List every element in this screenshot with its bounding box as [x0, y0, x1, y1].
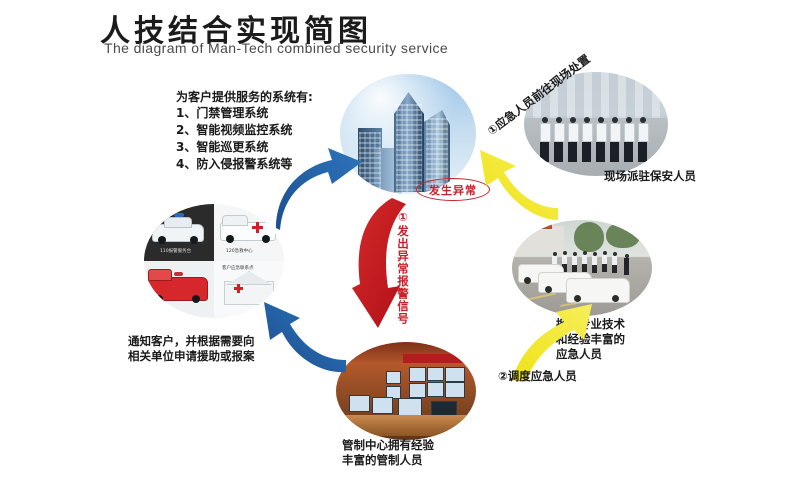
wall-monitor [386, 371, 401, 384]
guard-figure [638, 117, 647, 162]
control-room-caption: 管制中心拥有经验 丰富的管制人员 [342, 438, 434, 468]
patrol-person [612, 252, 617, 273]
guard-figure [596, 117, 605, 162]
systems-list-items: 1、门禁管理系统 2、智能视频监控系统 3、智能巡更系统 4、防入侵报警系统等 [176, 105, 292, 173]
patrol-person [582, 251, 587, 272]
patrol-building [512, 226, 564, 254]
guard-figure [610, 117, 619, 162]
patrol-person [592, 252, 597, 273]
alarm-signal-label: ①发出异常报警信号 [396, 210, 410, 325]
wall-monitor [445, 367, 465, 383]
guards-caption: 现场派驻保安人员 [604, 168, 696, 184]
police-label: 110报警服务台 [160, 248, 191, 254]
fire-truck-cabin [148, 269, 172, 281]
systems-list-heading: 为客户提供服务的系统有: [176, 88, 313, 105]
diagram-canvas: 人技结合实现简图 The diagram of Man-Tech combine… [0, 0, 802, 477]
ambulance-cabin [222, 215, 248, 226]
arrow-blue-up-left [248, 298, 348, 378]
wall-monitor [409, 383, 426, 398]
patrol-tree [574, 222, 604, 252]
desk-monitor [372, 397, 392, 414]
building-windows-a [396, 104, 422, 192]
control-room-wall-band [403, 354, 476, 363]
vehicles-caption: 通知客户，并根据需要向 相关单位申请援助或报案 [128, 334, 255, 364]
arrow-yellow-up-left [468, 148, 562, 228]
wall-monitor [445, 382, 465, 398]
dispatch-label: ②调度应急人员 [498, 368, 577, 384]
patrol-tree [606, 222, 640, 248]
control-desk [342, 415, 471, 437]
fire-lightbar [174, 272, 183, 276]
police-car-cabin [164, 217, 192, 228]
ambulance-label: 120急救中心 [226, 248, 253, 254]
wall-monitor [409, 367, 426, 382]
ambulance-panel: 120急救中心 [214, 204, 284, 261]
guard-figure [568, 117, 577, 162]
parking-line [522, 292, 556, 301]
fire-truck-panel [144, 261, 214, 318]
desk-monitor [349, 395, 371, 412]
wall-monitor [427, 367, 444, 382]
wall-monitor [427, 382, 444, 397]
page-subtitle: The diagram of Man-Tech combined securit… [104, 40, 448, 56]
guard-figure [582, 117, 591, 162]
patrol-person [572, 252, 577, 273]
patrol-person [624, 254, 629, 275]
tent-label: 客户应急联系点 [222, 265, 254, 271]
guard-figure [624, 117, 633, 162]
control-room-photo [336, 342, 476, 440]
police-lightbar [174, 213, 184, 217]
police-car-panel: 110报警服务台 [144, 204, 214, 261]
patrol-person [602, 251, 607, 272]
